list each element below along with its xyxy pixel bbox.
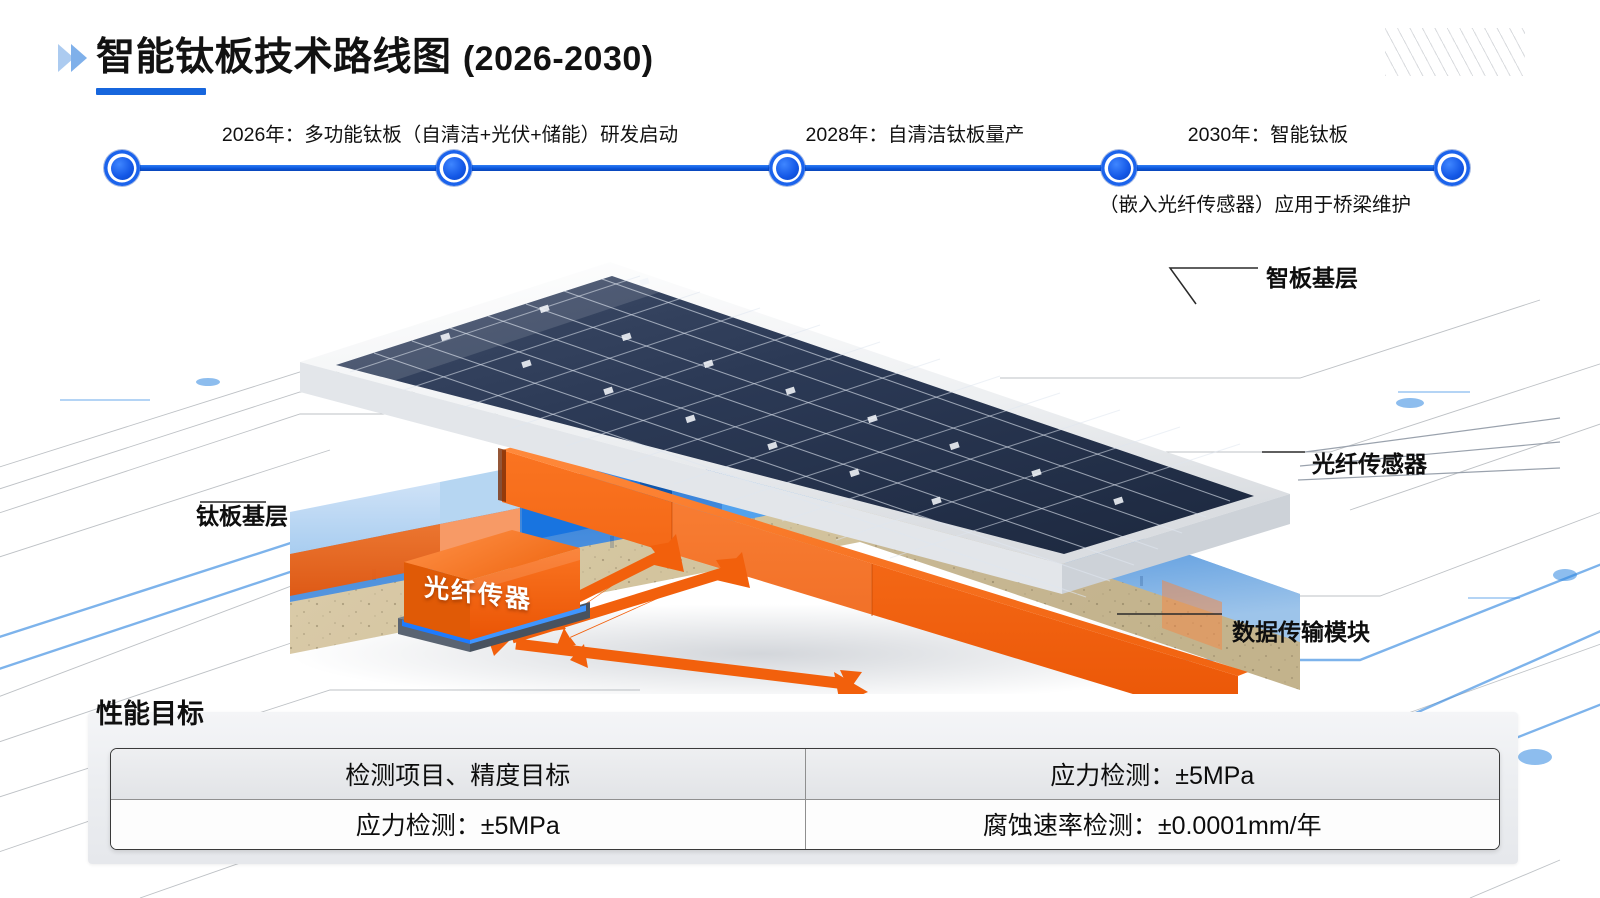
timeline-label-2026: 2026年：多功能钛板（自清洁+光伏+储能）研发启动: [222, 118, 678, 147]
timeline-label-2028: 2028年：自清洁钛板量产: [806, 118, 1025, 147]
callout-data-transmission-module: 数据传输模块: [1232, 613, 1370, 647]
slide-canvas: 智能钛板技术路线图 (2026-2030) 2026年：多功能钛板（自清洁+光伏…: [0, 0, 1600, 898]
callout-fiber-optic-sensor: 光纤传感器: [1312, 445, 1427, 479]
table-cell-r1c0: 应力检测：±5MPa: [111, 799, 805, 849]
table-row: 应力检测：±5MPa 腐蚀速率检测：±0.0001mm/年: [111, 799, 1499, 849]
play-triangle-icon: [56, 42, 90, 74]
slide-header: 智能钛板技术路线图 (2026-2030): [0, 0, 1600, 104]
page-title-main: 智能钛板技术路线图: [96, 36, 452, 79]
table-row: 检测项目、精度目标 应力检测：±5MPa: [111, 749, 1499, 799]
timeline-label-2030-sub: （嵌入光纤传感器）应用于桥梁维护: [1099, 188, 1411, 217]
performance-heading: 性能目标: [96, 692, 204, 731]
callout-smart-board-base: 智板基层: [1266, 259, 1358, 293]
timeline-node-4[interactable]: [1101, 150, 1137, 186]
timeline-node-5[interactable]: [1434, 150, 1470, 186]
title-underline: [96, 88, 206, 95]
timeline-label-2030: 2030年：智能钛板: [1188, 118, 1348, 147]
performance-table: 检测项目、精度目标 应力检测：±5MPa 应力检测：±5MPa 腐蚀速率检测：±…: [110, 748, 1500, 850]
timeline-node-2[interactable]: [436, 150, 472, 186]
callout-titanium-base: 钛板基层: [196, 497, 288, 531]
timeline-node-1[interactable]: [104, 150, 140, 186]
page-title-years: (2026-2030): [463, 40, 654, 78]
timeline-node-3[interactable]: [769, 150, 805, 186]
table-cell-r0c0: 检测项目、精度目标: [111, 749, 805, 799]
page-title: 智能钛板技术路线图 (2026-2030): [96, 26, 654, 82]
table-cell-r1c1: 腐蚀速率检测：±0.0001mm/年: [805, 799, 1499, 849]
table-cell-r0c1: 应力检测：±5MPa: [805, 749, 1499, 799]
roadmap-timeline: 2026年：多功能钛板（自清洁+光伏+储能）研发启动 2028年：自清洁钛板量产…: [0, 104, 1600, 224]
